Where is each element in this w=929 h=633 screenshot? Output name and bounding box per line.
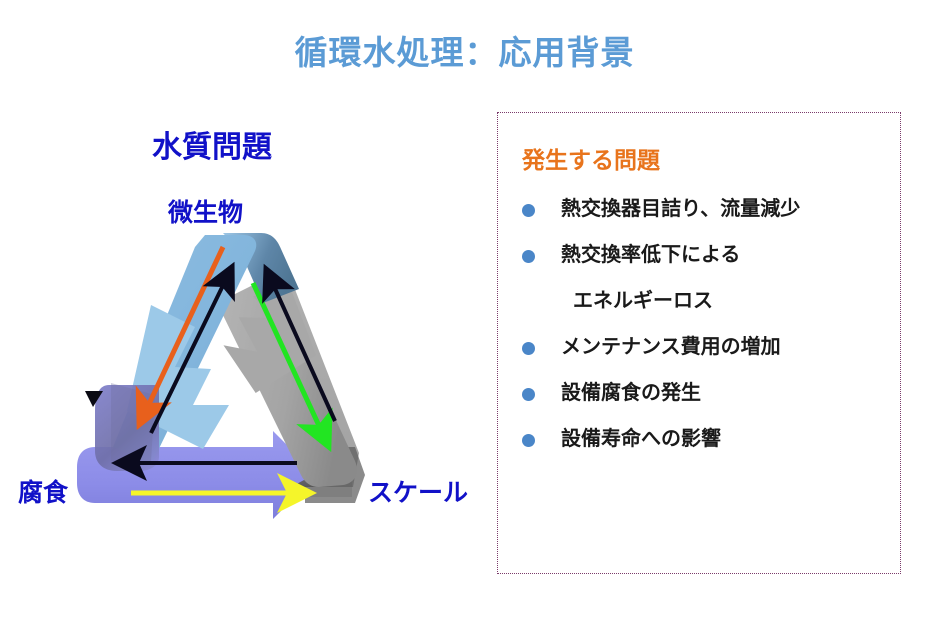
page-title: 循環水処理：応用背景 — [0, 26, 929, 74]
bullet-icon — [522, 388, 535, 401]
list-item-label: 設備腐食の発生 — [561, 381, 701, 404]
list-item: 設備腐食の発生 — [498, 381, 900, 427]
recycle-triangle-graphic — [55, 225, 445, 525]
list-item-label: メンテナンス費用の増加 — [561, 335, 781, 358]
diagram-heading: 水質問題 — [152, 122, 272, 166]
list-item-label: エネルギーロス — [561, 289, 713, 312]
list-item: 熱交換器目詰り、流量減少 — [498, 197, 900, 243]
bullet-icon — [522, 434, 535, 447]
issues-panel: 発生する問題 熱交換器目詰り、流量減少 熱交換率低下による エネルギーロス メン… — [497, 112, 901, 574]
cycle-corner-corrosion — [85, 383, 159, 471]
cycle-label-microorganism: 微生物 — [168, 193, 243, 229]
bullet-icon — [522, 250, 535, 263]
list-item: 設備寿命への影響 — [498, 427, 900, 473]
water-quality-diagram: 水質問題 微生物 腐食 スケール — [0, 100, 490, 600]
list-item: 熱交換率低下による — [498, 243, 900, 289]
list-item: エネルギーロス — [498, 289, 900, 335]
list-item-label: 熱交換器目詰り、流量減少 — [561, 197, 800, 220]
issues-list: 熱交換器目詰り、流量減少 熱交換率低下による エネルギーロス メンテナンス費用の… — [498, 197, 900, 473]
bullet-icon — [522, 342, 535, 355]
bullet-icon-placeholder — [522, 296, 535, 309]
issues-panel-heading: 発生する問題 — [522, 141, 660, 175]
list-item-label: 設備寿命への影響 — [561, 427, 721, 450]
bullet-icon — [522, 204, 535, 217]
list-item: メンテナンス費用の増加 — [498, 335, 900, 381]
list-item-label: 熱交換率低下による — [561, 243, 740, 266]
